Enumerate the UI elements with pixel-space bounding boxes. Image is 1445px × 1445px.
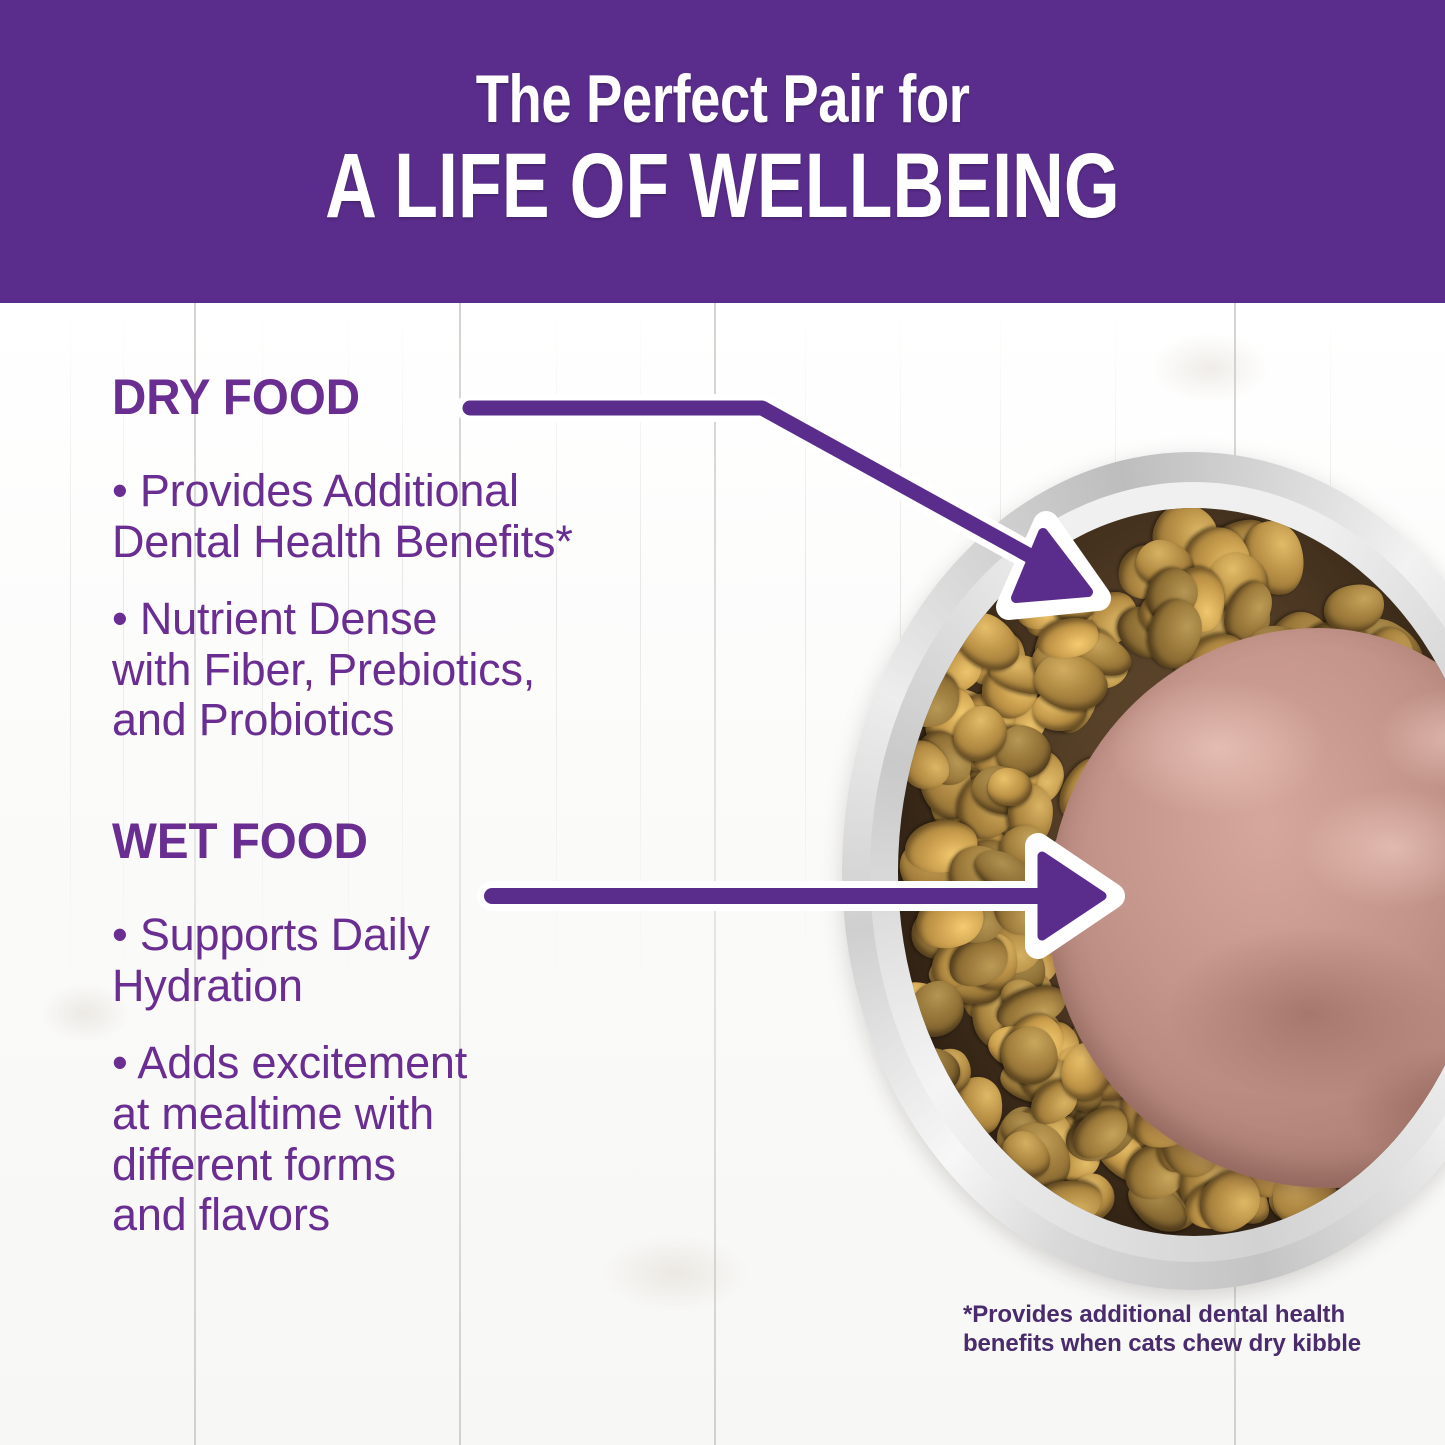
bullet-line: different forms bbox=[112, 1140, 832, 1191]
page-title-line-1: The Perfect Pair for bbox=[476, 65, 970, 134]
wood-knot bbox=[1150, 333, 1270, 403]
pate-highlight bbox=[1298, 788, 1445, 908]
pet-food-bowl-photo bbox=[836, 452, 1445, 1297]
bowl-interior bbox=[898, 508, 1445, 1236]
wet-food-bullet-list: • Supports Daily Hydration • Adds excite… bbox=[112, 910, 832, 1241]
bullet-line: • Adds excitement bbox=[112, 1038, 832, 1089]
bullet-line: and Probiotics bbox=[112, 695, 832, 746]
list-item: • Provides Additional Dental Health Bene… bbox=[112, 466, 832, 568]
section-heading-wet-food: WET FOOD bbox=[112, 816, 796, 866]
bullet-line: and flavors bbox=[112, 1190, 832, 1241]
header-banner: The Perfect Pair for A LIFE OF WELLBEING bbox=[0, 0, 1445, 303]
bullet-line: with Fiber, Prebiotics, bbox=[112, 645, 832, 696]
footnote-line-1: *Provides additional dental health bbox=[963, 1300, 1383, 1329]
dry-food-bullet-list: • Provides Additional Dental Health Bene… bbox=[112, 466, 832, 746]
footnote-line-2: benefits when cats chew dry kibble bbox=[963, 1329, 1383, 1358]
bullet-line: Dental Health Benefits* bbox=[112, 517, 832, 568]
footnote: *Provides additional dental health benef… bbox=[963, 1300, 1383, 1359]
section-heading-dry-food: DRY FOOD bbox=[112, 372, 796, 422]
list-item: • Adds excitement at mealtime with diffe… bbox=[112, 1038, 832, 1241]
benefits-copy-column: DRY FOOD • Provides Additional Dental He… bbox=[112, 372, 832, 1267]
pate-highlight bbox=[1108, 678, 1328, 818]
bullet-line: • Provides Additional bbox=[112, 466, 832, 517]
bullet-line: at mealtime with bbox=[112, 1089, 832, 1140]
bullet-line: Hydration bbox=[112, 961, 832, 1012]
list-item: • Supports Daily Hydration bbox=[112, 910, 832, 1012]
list-item: • Nutrient Dense with Fiber, Prebiotics,… bbox=[112, 594, 832, 747]
page-title-line-2: A LIFE OF WELLBEING bbox=[325, 140, 1120, 232]
infographic-canvas: The Perfect Pair for A LIFE OF WELLBEING bbox=[0, 0, 1445, 1445]
bullet-line: • Nutrient Dense bbox=[112, 594, 832, 645]
pate-highlight bbox=[1378, 688, 1445, 788]
wood-grain bbox=[70, 303, 71, 1445]
bullet-line: • Supports Daily bbox=[112, 910, 832, 961]
